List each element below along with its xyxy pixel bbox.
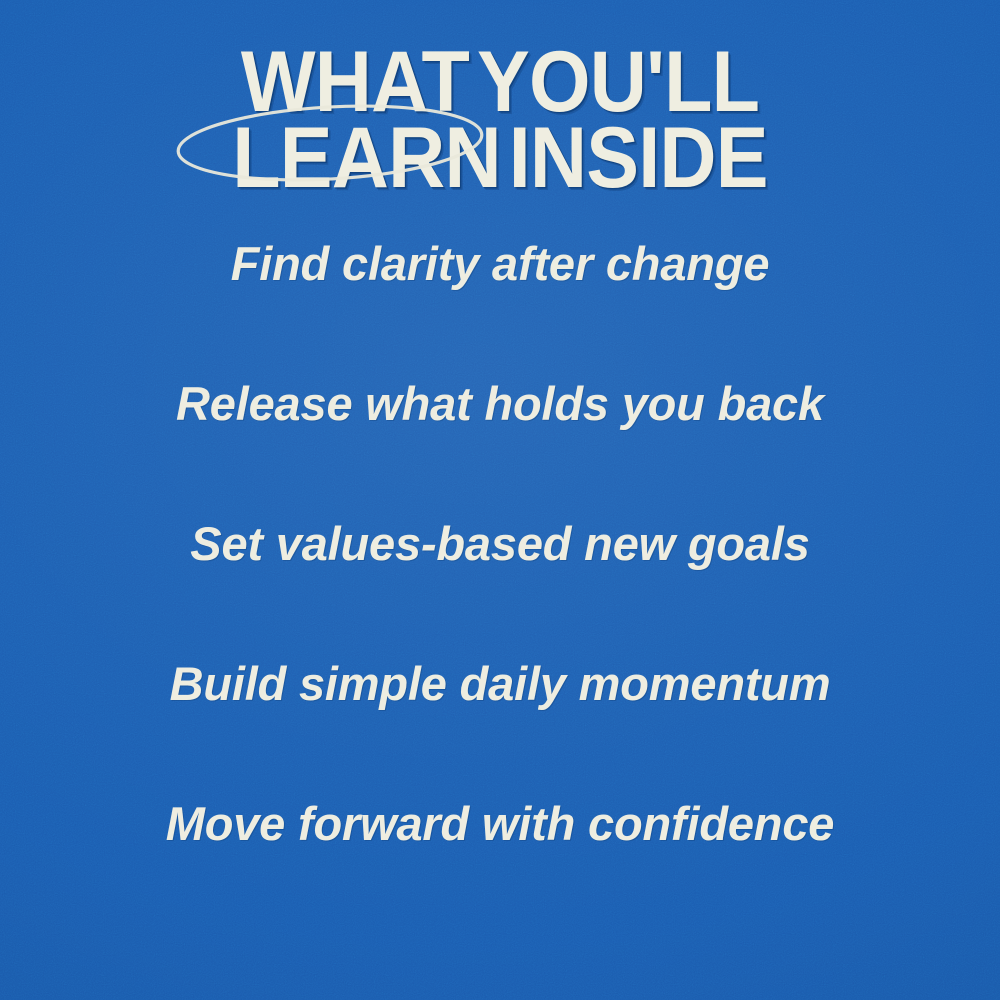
poster-canvas: WHATYOU'LL LEARNINSIDE Find clarity afte… xyxy=(0,0,1000,1000)
heading-line-1: WHATYOU'LL xyxy=(40,46,960,120)
heading-line-2: LEARNINSIDE xyxy=(40,122,960,196)
heading-word-youll: YOU'LL xyxy=(477,46,759,120)
list-item: Set values-based new goals xyxy=(0,520,1000,660)
heading-word-what: WHAT xyxy=(241,46,469,120)
point-text-2: Release what holds you back xyxy=(176,380,824,427)
point-text-4: Build simple daily momentum xyxy=(170,660,831,707)
list-item: Find clarity after change xyxy=(0,240,1000,380)
learn-highlight-ellipse xyxy=(176,99,484,188)
heading-word-learn: LEARN xyxy=(232,122,501,196)
poster-heading: WHATYOU'LL LEARNINSIDE xyxy=(0,46,1000,196)
list-item: Release what holds you back xyxy=(0,380,1000,520)
list-item: Build simple daily momentum xyxy=(0,660,1000,800)
heading-word-inside: INSIDE xyxy=(509,122,768,196)
point-text-5: Move forward with confidence xyxy=(166,800,834,847)
list-item: Move forward with confidence xyxy=(0,800,1000,940)
point-text-3: Set values-based new goals xyxy=(190,520,809,567)
learning-points-list: Find clarity after change Release what h… xyxy=(0,240,1000,940)
point-text-1: Find clarity after change xyxy=(231,240,770,287)
